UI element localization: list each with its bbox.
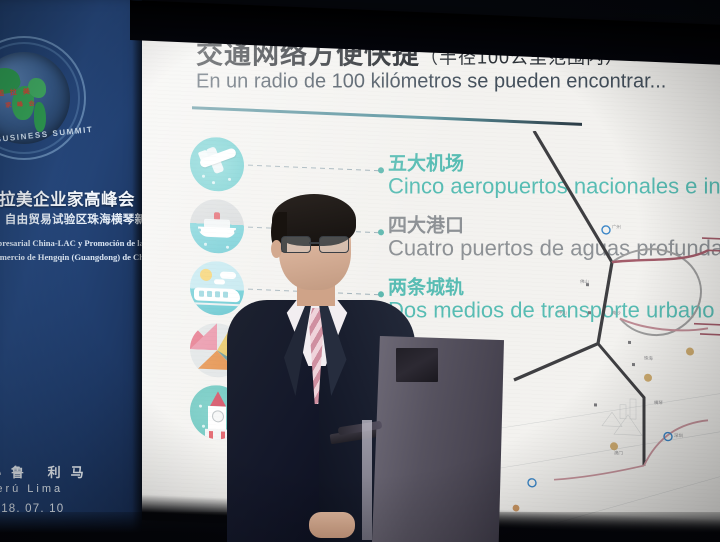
leader-dot [378, 167, 384, 173]
lectern-plaque [396, 348, 438, 382]
svg-text:澳门: 澳门 [614, 449, 623, 456]
lectern [372, 336, 504, 542]
regional-transport-map: 广州佛山 中山珠海 澳门深圳 南沙横琴 [494, 129, 720, 532]
banner-title-cn: 中国—拉美企业家高峰会 [0, 186, 142, 210]
svg-text:佛山: 佛山 [580, 278, 589, 285]
leader-line [248, 165, 380, 172]
svg-text:南沙: 南沙 [612, 309, 621, 315]
banner-location-cn: 秘鲁 利马 [0, 462, 94, 481]
title-underline [192, 106, 582, 126]
event-banner: 中 国 拉 美 企 业 家 峰 会 LAC BUSINESS SUMMIT 中国… [0, 0, 142, 542]
china-lac-business-summit-logo: 中 国 拉 美 企 业 家 峰 会 LAC BUSINESS SUMMIT [0, 36, 86, 160]
svg-text:广州: 广州 [612, 223, 621, 230]
svg-text:中山: 中山 [558, 309, 567, 316]
svg-text:珠海: 珠海 [644, 355, 653, 362]
banner-location-es: Perú Lima [0, 483, 63, 495]
banner-subtitle-es-line1: Cumbre Empresarial China-LAC y Promoción… [0, 238, 142, 248]
list-item-label-cn: 五大机场 [388, 149, 464, 176]
screenshot-stage: 交通网络方便快捷（半径100公里范围内） En un radio de 100 … [0, 0, 720, 542]
presenter-hands [309, 512, 355, 538]
svg-text:横琴: 横琴 [654, 399, 663, 406]
airplane-icon [190, 136, 244, 192]
banner-subtitle-es-line2: de Libre Comercio de Hengqin (Guangdong)… [0, 252, 142, 262]
slide-title-es: En un radio de 100 kilómetros se pueden … [196, 70, 666, 93]
svg-text:深圳: 深圳 [674, 432, 683, 439]
banner-subtitle-cn: 中国（广东）自由贸易试验区珠海横琴新区片区推介会 [0, 211, 142, 227]
eyeglasses [281, 236, 353, 252]
